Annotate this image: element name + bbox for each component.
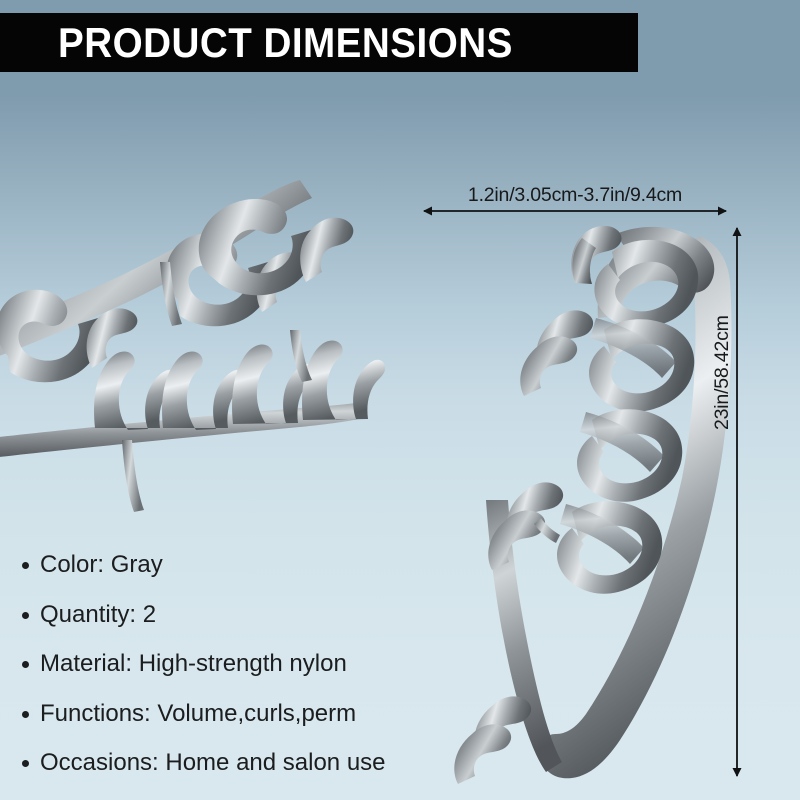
bullet-dot-icon xyxy=(22,711,29,718)
product-spec-list: Color: Gray Quantity: 2 Material: High-s… xyxy=(20,552,460,776)
bullet-dot-icon xyxy=(22,562,29,569)
spec-item-label: Color: Gray xyxy=(40,551,163,578)
width-dimension-label: 1.2in/3.05cm-3.7in/9.4cm xyxy=(422,184,728,207)
right-claw-column xyxy=(557,240,698,594)
product-right-view xyxy=(454,226,731,784)
spec-item-quantity: Quantity: 2 xyxy=(20,602,460,628)
product-left-view xyxy=(0,180,385,512)
bullet-dot-icon xyxy=(22,760,29,767)
height-dimension-label: 23in/58.42cm xyxy=(711,315,734,430)
spec-item-color: Color: Gray xyxy=(20,552,460,578)
right-fork-column xyxy=(454,226,621,784)
page-title: PRODUCT DIMENSIONS xyxy=(58,22,513,64)
spec-item-label: Material: High-strength nylon xyxy=(40,650,347,677)
bullet-dot-icon xyxy=(22,661,29,668)
left-claw-row-lower xyxy=(94,340,385,430)
bullet-dot-icon xyxy=(22,612,29,619)
spec-item-material: Material: High-strength nylon xyxy=(20,651,460,677)
spec-item-label: Occasions: Home and salon use xyxy=(40,749,386,776)
spec-item-label: Functions: Volume,curls,perm xyxy=(40,700,356,727)
header-banner: PRODUCT DIMENSIONS xyxy=(0,13,638,72)
spec-item-label: Quantity: 2 xyxy=(40,601,156,628)
spec-item-occasions: Occasions: Home and salon use xyxy=(20,750,460,776)
infographic-canvas: PRODUCT DIMENSIONS 1.2in/3.05cm-3.7in/9.… xyxy=(0,0,800,800)
left-claw-row-upper xyxy=(0,194,353,512)
spec-item-functions: Functions: Volume,curls,perm xyxy=(20,701,460,727)
